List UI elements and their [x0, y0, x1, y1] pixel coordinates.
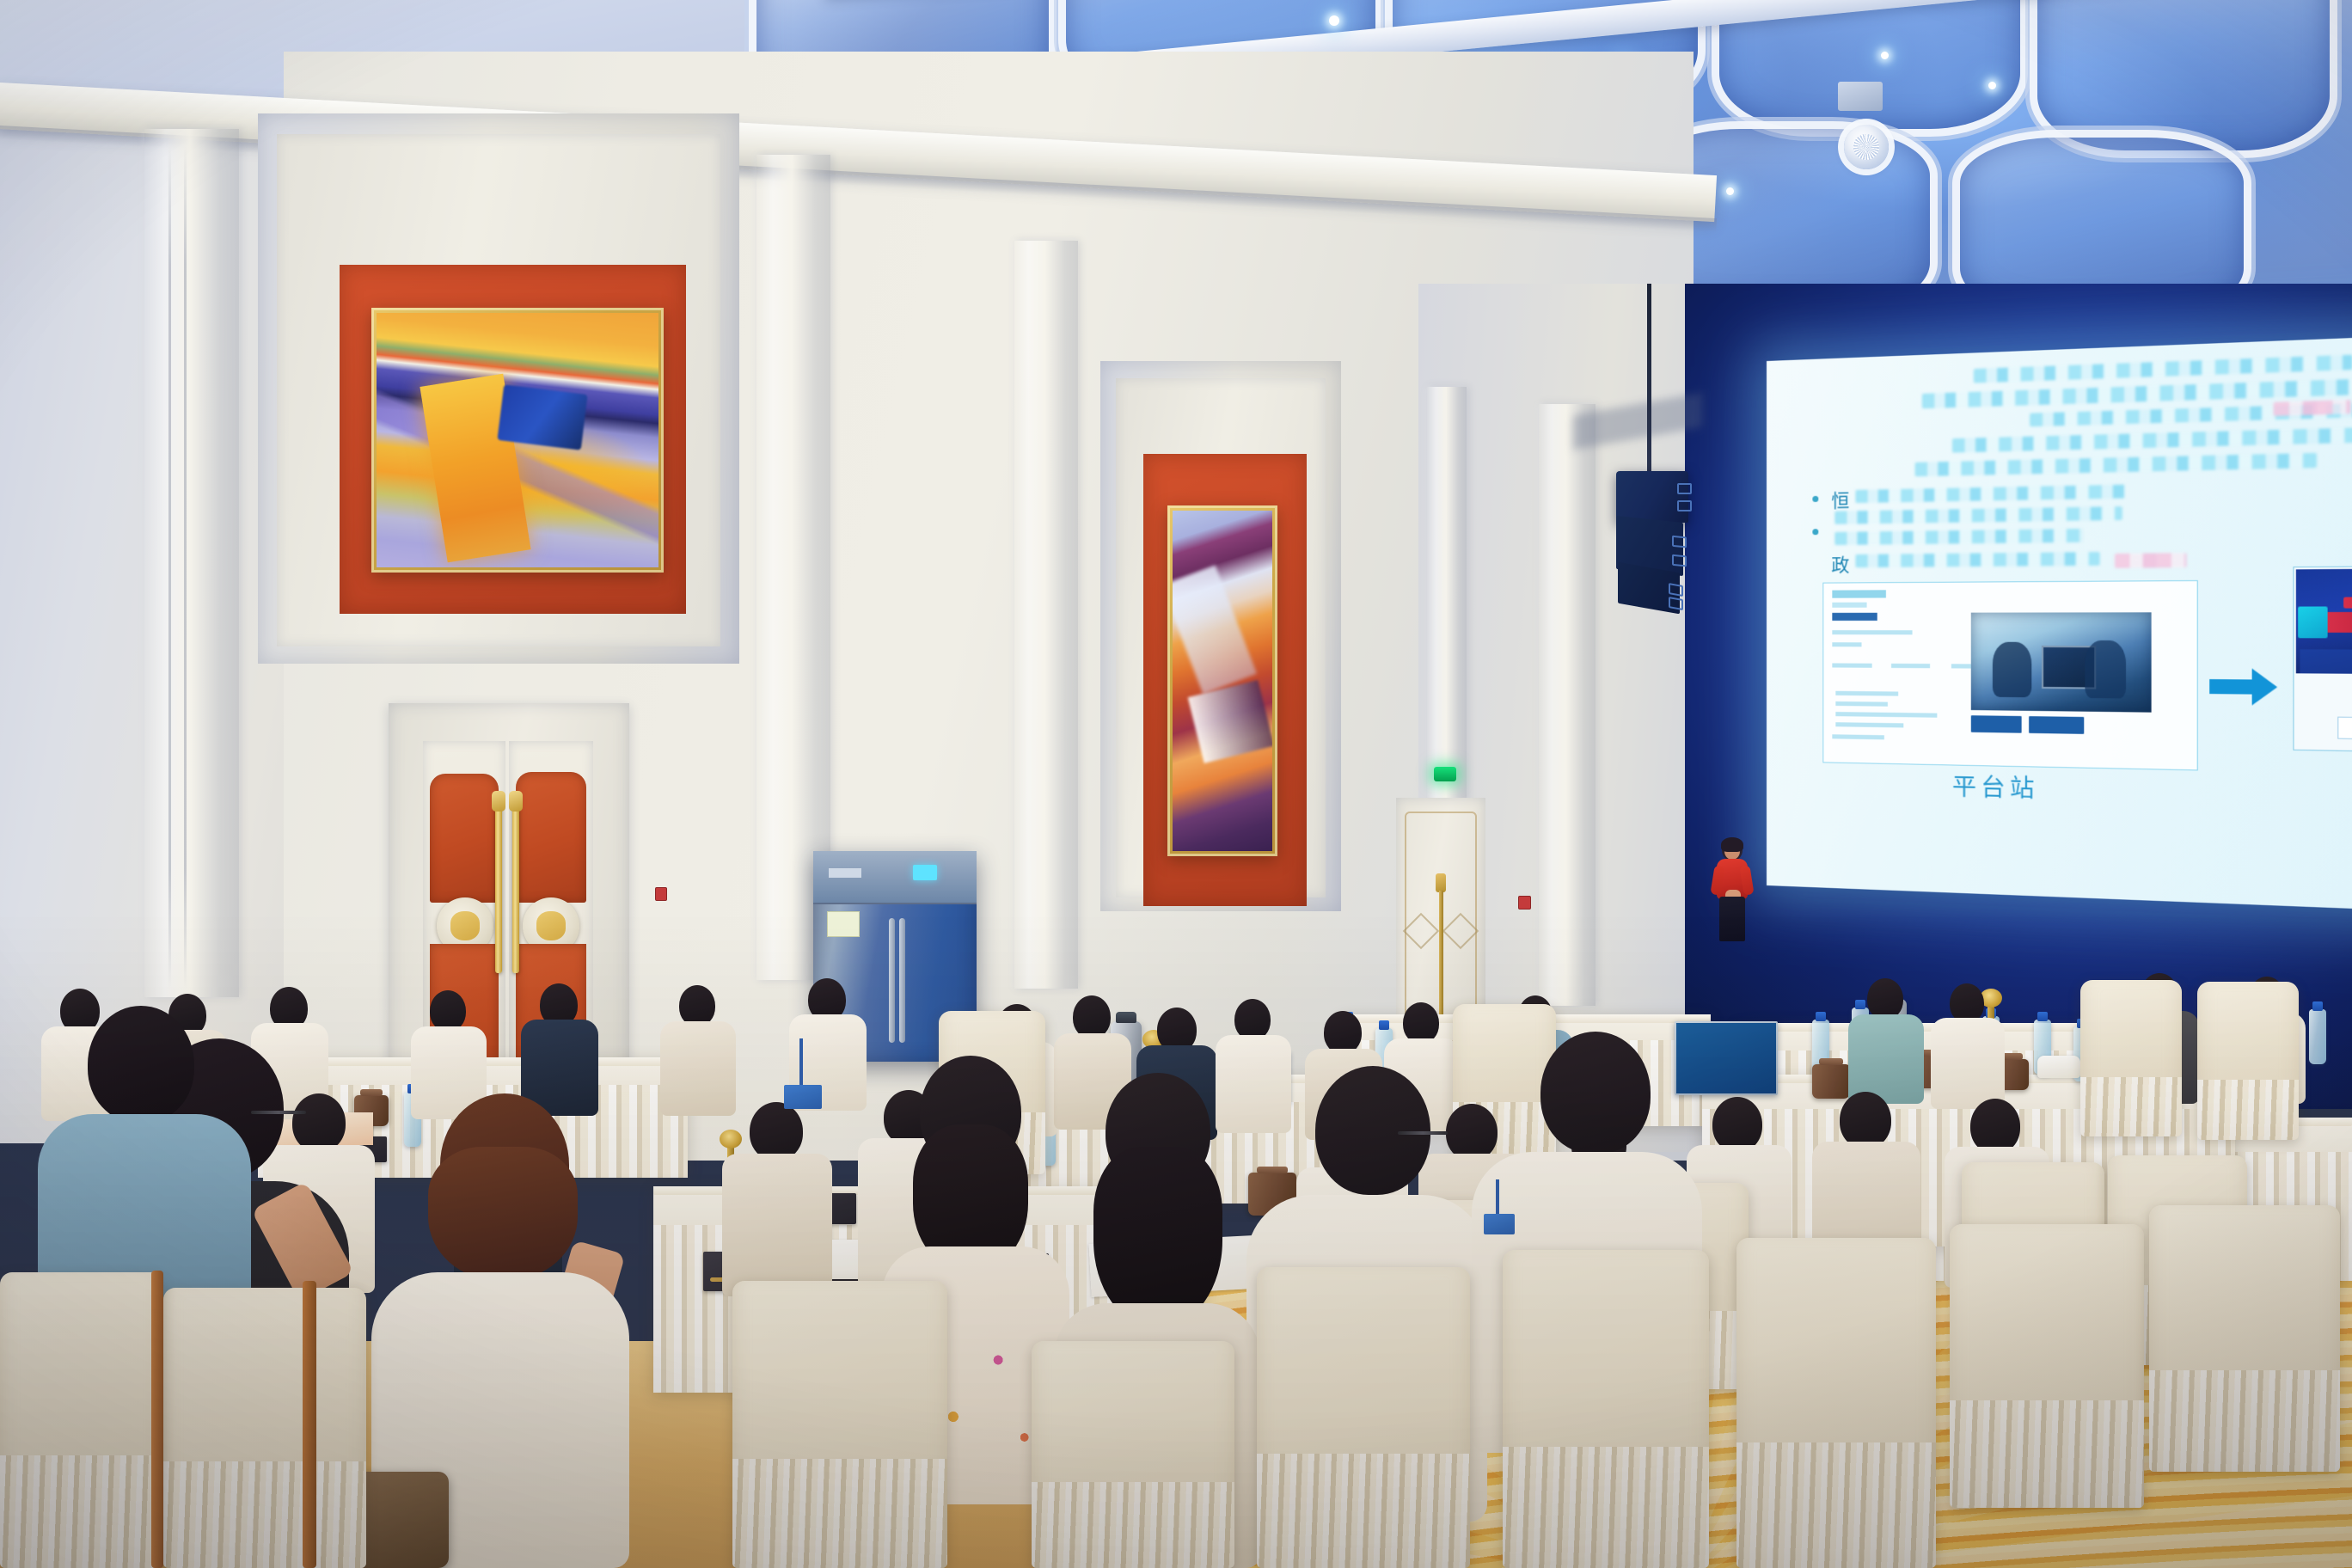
banquet-chair[interactable] [1032, 1341, 1234, 1568]
slide-text-cjk-2: 政 [1831, 551, 1851, 578]
door-handle-knob [509, 791, 523, 812]
presenter [1711, 838, 1754, 941]
fridge-display [913, 865, 937, 880]
slide-bullet-icon [1812, 496, 1818, 502]
fridge-brand-label [829, 868, 861, 878]
banquet-chair[interactable] [1736, 1238, 1936, 1568]
card-stat [1891, 664, 1930, 668]
card-bullet-row [1835, 691, 1898, 696]
artwork-landscape [371, 308, 664, 573]
card-bullet-row [1835, 701, 1888, 707]
banquet-chair[interactable] [2149, 1205, 2340, 1472]
hair-bob [428, 1147, 578, 1281]
slide-bullet-icon [1812, 529, 1818, 535]
lanyard [799, 1038, 803, 1088]
hair-long [1093, 1147, 1222, 1327]
far-door-handle[interactable] [1436, 873, 1446, 892]
card-title [1832, 590, 1886, 597]
card-stat [1832, 663, 1871, 667]
card-bullet-row [1832, 734, 1884, 739]
fire-alarm-icon [655, 887, 667, 901]
banquet-chair[interactable] [732, 1281, 947, 1568]
pa-speaker [1616, 471, 1688, 523]
exit-sign-icon [1434, 767, 1456, 781]
banquet-chair[interactable] [0, 1272, 163, 1568]
pilaster-left [144, 129, 239, 997]
card-bullet-row [1835, 722, 1903, 727]
door-panel-decor [516, 772, 586, 903]
door-panel-decor [430, 774, 499, 903]
card-photo [1971, 612, 2152, 712]
card-button-primary[interactable] [1971, 715, 2022, 733]
slide-phone-mock [2293, 566, 2352, 752]
ballroom-scene: 恒 政 [0, 0, 2352, 1568]
card-meta [1832, 642, 1861, 646]
lanyard [1496, 1179, 1499, 1217]
pilaster-far [1539, 404, 1596, 1006]
card-meta [1832, 630, 1912, 634]
banquet-chair[interactable] [1257, 1267, 1470, 1568]
door-handle-knob [492, 791, 505, 812]
artwork-vertical [1167, 505, 1277, 856]
pilaster-right [1014, 241, 1078, 989]
pilaster-groove [184, 146, 187, 989]
name-badge [1484, 1214, 1515, 1234]
chair-frame [151, 1271, 163, 1568]
slide-card [1822, 580, 2197, 771]
projection-screen: 恒 政 [1767, 336, 2352, 910]
chair-frame [303, 1281, 316, 1568]
phone-input-field[interactable] [2337, 717, 2352, 740]
card-subtitle [1832, 603, 1866, 608]
banquet-chair[interactable] [1950, 1224, 2144, 1508]
eyeglasses [1398, 1131, 1448, 1135]
slide-caption: 平台站 [1952, 768, 2039, 805]
banquet-chair[interactable] [163, 1288, 366, 1568]
card-bullet-row [1835, 712, 1937, 718]
ceiling-rosette [1844, 125, 1889, 169]
speaker-suspension-cable [1647, 284, 1651, 475]
pilaster-groove [168, 146, 171, 989]
fire-alarm-icon [1518, 896, 1531, 910]
banquet-chair[interactable] [1503, 1250, 1709, 1568]
ceiling-vent [1838, 82, 1883, 111]
name-badge [784, 1085, 822, 1109]
card-tag [1832, 613, 1877, 621]
card-button-secondary[interactable] [2029, 716, 2084, 734]
slide-text-cjk-1: 恒 [1831, 487, 1851, 513]
arrow-right-icon [2209, 666, 2279, 707]
